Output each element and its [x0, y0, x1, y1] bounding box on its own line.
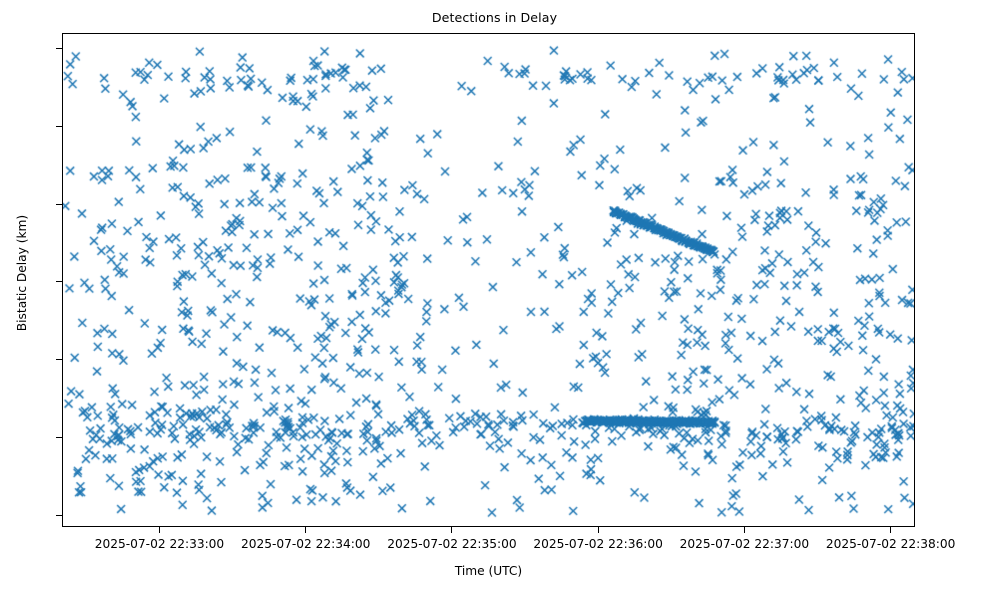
plot-axes-area — [62, 33, 915, 527]
y-tick-mark — [56, 204, 62, 205]
x-tick-mark — [451, 527, 452, 533]
page-title: Detections in Delay — [0, 10, 989, 25]
x-tick-mark — [305, 527, 306, 533]
y-tick-mark — [56, 126, 62, 127]
y-axis-label: Bistatic Delay (km) — [15, 143, 29, 403]
x-tick-label: 2025-07-02 22:38:00 — [801, 537, 981, 551]
y-tick-mark — [56, 359, 62, 360]
matplotlib-figure: Detections in Delay Bistatic Delay (km) … — [0, 0, 989, 590]
x-tick-mark — [744, 527, 745, 533]
scatter-plot-canvas — [63, 34, 914, 526]
x-tick-mark — [598, 527, 599, 533]
y-tick-mark — [56, 437, 62, 438]
y-tick-mark — [56, 515, 62, 516]
x-axis-label: Time (UTC) — [62, 564, 915, 578]
y-tick-mark — [56, 281, 62, 282]
x-tick-mark — [159, 527, 160, 533]
x-tick-mark — [890, 527, 891, 533]
y-tick-mark — [56, 48, 62, 49]
